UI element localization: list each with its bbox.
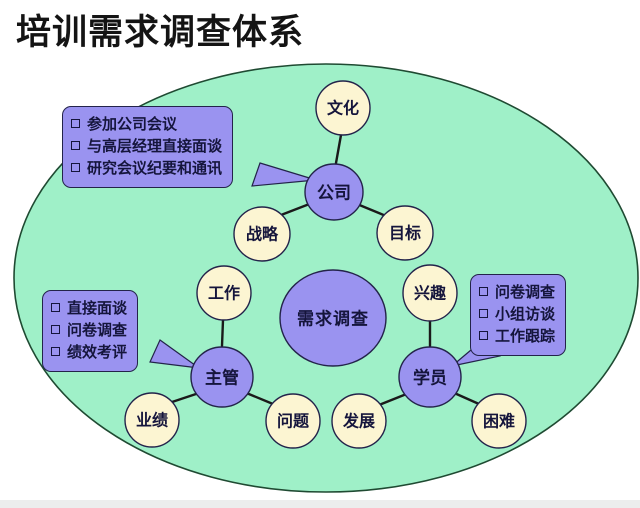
list-item: 工作跟踪 xyxy=(479,326,555,348)
node-strategy-label: 战略 xyxy=(246,225,279,244)
node-problem[interactable]: 问题 xyxy=(266,394,320,448)
edge-work-supervisor xyxy=(222,320,223,346)
callout-company-item-2: 研究会议纪要和通讯 xyxy=(87,158,222,180)
callout-company-item-1: 与高层经理直接面谈 xyxy=(87,136,222,158)
list-item: 与高层经理直接面谈 xyxy=(71,136,222,158)
bullet-square-icon xyxy=(71,141,80,150)
node-performance[interactable]: 业绩 xyxy=(125,393,179,447)
node-supervisor[interactable]: 主管 xyxy=(191,347,253,407)
node-core-label: 需求调查 xyxy=(297,309,369,329)
callout-supervisor[interactable]: 直接面谈 问卷调查 绩效考评 xyxy=(42,290,138,372)
callout-supervisor-item-1: 问卷调查 xyxy=(67,320,127,342)
node-development[interactable]: 发展 xyxy=(332,394,386,448)
list-item: 绩效考评 xyxy=(51,342,127,364)
node-core[interactable]: 需求调查 xyxy=(280,270,386,366)
bullet-square-icon xyxy=(51,303,60,312)
callout-trainee-list: 问卷调查 小组访谈 工作跟踪 xyxy=(479,282,555,348)
node-trainee-label: 学员 xyxy=(413,368,447,388)
node-trainee[interactable]: 学员 xyxy=(399,347,461,407)
bullet-square-icon xyxy=(51,325,60,334)
list-item: 问卷调查 xyxy=(51,320,127,342)
node-difficulty[interactable]: 困难 xyxy=(472,394,526,448)
callout-supervisor-list: 直接面谈 问卷调查 绩效考评 xyxy=(51,298,127,364)
callout-trainee-item-2: 工作跟踪 xyxy=(495,326,555,348)
node-development-label: 发展 xyxy=(342,412,376,431)
bullet-square-icon xyxy=(71,163,80,172)
list-item: 小组访谈 xyxy=(479,304,555,326)
bullet-square-icon xyxy=(479,331,488,340)
callout-company-item-0: 参加公司会议 xyxy=(87,114,177,136)
node-interest-label: 兴趣 xyxy=(414,284,447,303)
bullet-square-icon xyxy=(51,347,60,356)
bullet-square-icon xyxy=(479,309,488,318)
node-company-label: 公司 xyxy=(317,184,351,203)
list-item: 参加公司会议 xyxy=(71,114,222,136)
node-work[interactable]: 工作 xyxy=(197,266,251,320)
node-problem-label: 问题 xyxy=(277,412,310,431)
callout-supervisor-item-0: 直接面谈 xyxy=(67,298,127,320)
node-goal[interactable]: 目标 xyxy=(377,206,433,260)
slide-canvas: 培训需求调查体系 需求调查 公司 xyxy=(0,0,640,508)
bullet-square-icon xyxy=(71,119,80,128)
callout-supervisor-item-2: 绩效考评 xyxy=(67,342,127,364)
node-work-label: 工作 xyxy=(208,284,240,303)
callout-trainee[interactable]: 问卷调查 小组访谈 工作跟踪 xyxy=(470,274,566,356)
node-strategy[interactable]: 战略 xyxy=(234,207,290,261)
node-culture-label: 文化 xyxy=(327,99,359,118)
list-item: 研究会议纪要和通讯 xyxy=(71,158,222,180)
bottom-strip xyxy=(0,500,640,508)
node-company[interactable]: 公司 xyxy=(305,164,363,220)
list-item: 直接面谈 xyxy=(51,298,127,320)
callout-company-list: 参加公司会议 与高层经理直接面谈 研究会议纪要和通讯 xyxy=(71,114,222,180)
callout-trainee-item-1: 小组访谈 xyxy=(495,304,555,326)
node-supervisor-label: 主管 xyxy=(205,368,239,388)
callout-trainee-item-0: 问卷调查 xyxy=(495,282,555,304)
list-item: 问卷调查 xyxy=(479,282,555,304)
node-goal-label: 目标 xyxy=(389,225,421,243)
bullet-square-icon xyxy=(479,287,488,296)
node-interest[interactable]: 兴趣 xyxy=(403,265,457,321)
callout-company[interactable]: 参加公司会议 与高层经理直接面谈 研究会议纪要和通讯 xyxy=(62,106,233,188)
node-difficulty-label: 困难 xyxy=(483,412,515,431)
node-performance-label: 业绩 xyxy=(136,411,168,430)
mindmap-diagram: 需求调查 公司 主管 学员 文化 战略 目标 工作 xyxy=(0,0,640,508)
node-culture[interactable]: 文化 xyxy=(316,81,370,135)
